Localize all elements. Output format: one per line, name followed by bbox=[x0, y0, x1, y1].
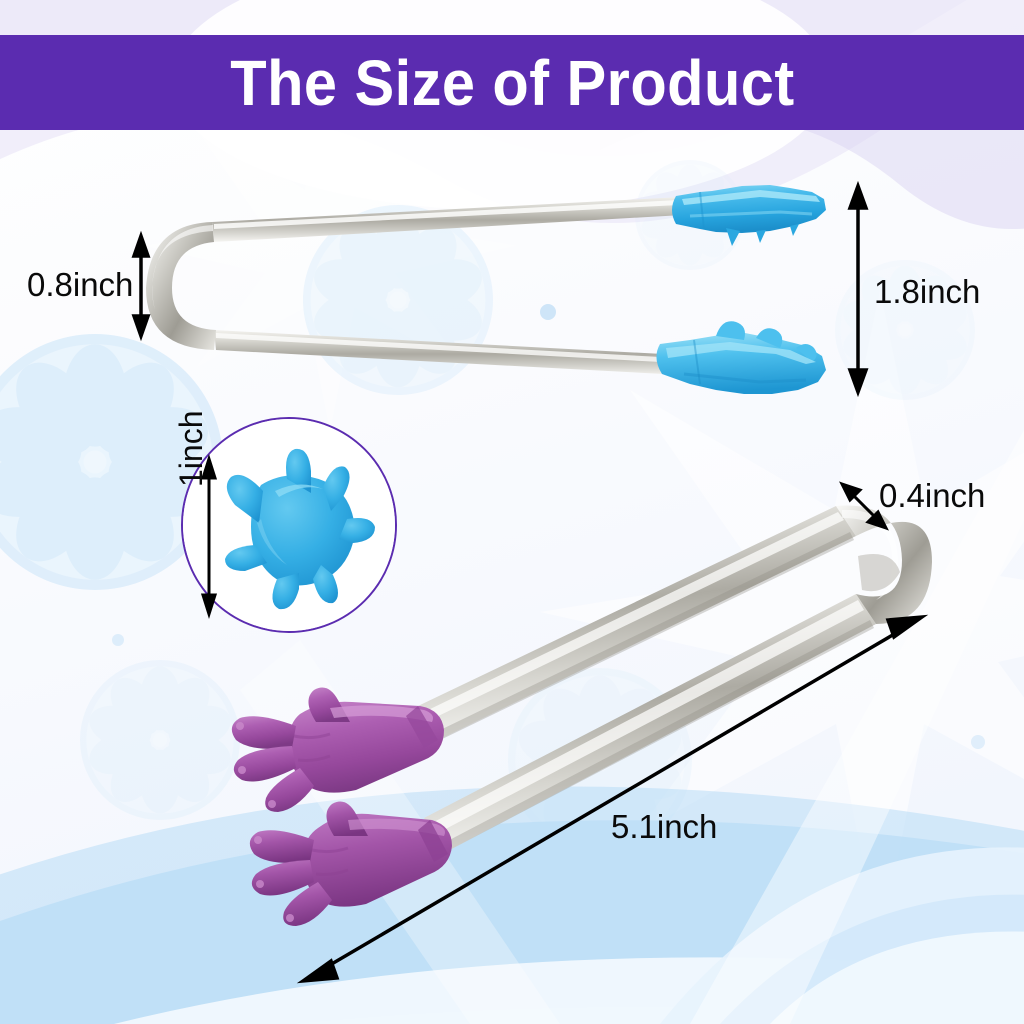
blue-tip-upper bbox=[672, 185, 826, 246]
dimension-label-0-4inch: 0.4inch bbox=[879, 479, 985, 512]
dimension-label-1inch: 1inch bbox=[175, 411, 207, 488]
page-title: The Size of Product bbox=[230, 51, 794, 115]
purple-tip-lower bbox=[250, 802, 452, 926]
title-banner: The Size of Product bbox=[0, 35, 1024, 130]
inset-hand-illustration bbox=[183, 419, 395, 631]
zoom-inset-circle bbox=[181, 417, 397, 633]
product-size-infographic: 0.8inch 1.8inch 0.4inch 5.1inch 1inch Th… bbox=[0, 0, 1024, 1024]
product-artwork bbox=[0, 0, 1024, 1024]
dimension-label-0-8inch: 0.8inch bbox=[27, 268, 133, 301]
purple-tip-upper bbox=[232, 688, 444, 812]
dimension-label-1-8inch: 1.8inch bbox=[874, 275, 980, 308]
product-top-tongs bbox=[146, 185, 826, 394]
dimension-label-5-1inch: 5.1inch bbox=[611, 810, 717, 843]
blue-tip-lower bbox=[656, 321, 826, 394]
